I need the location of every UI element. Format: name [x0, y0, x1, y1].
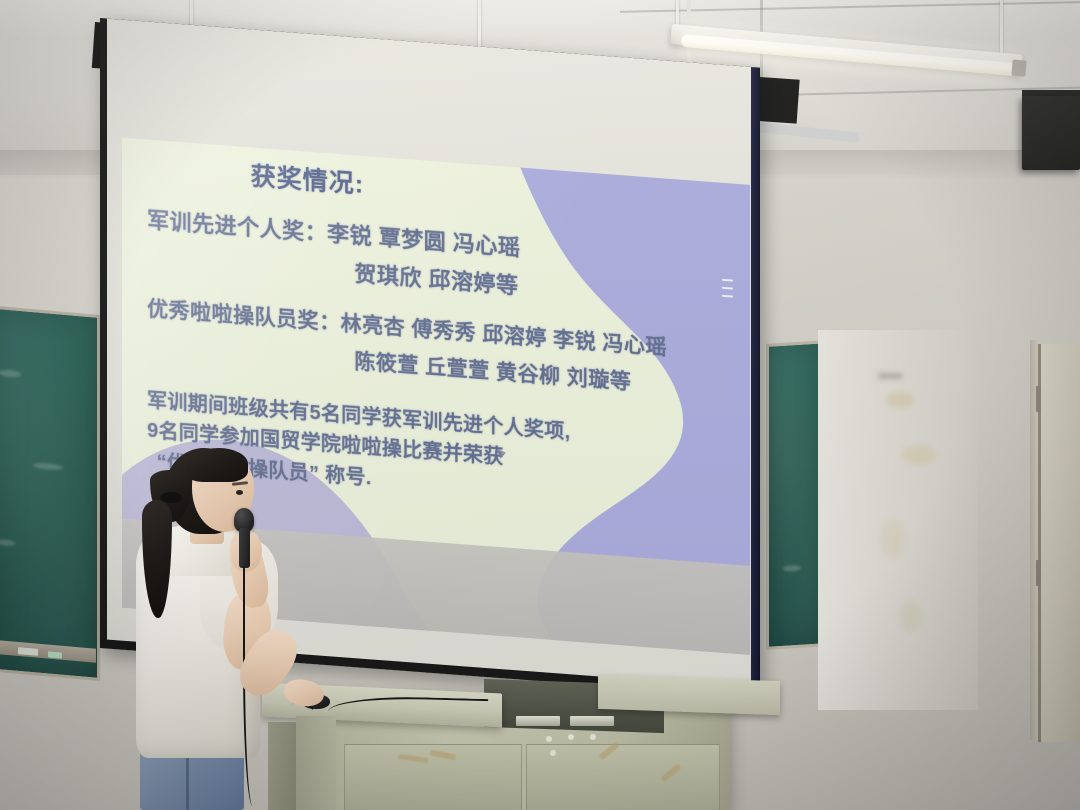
podium-equipment-slot	[570, 716, 614, 726]
chalk-smudge	[783, 565, 801, 572]
podium-equipment-slot	[516, 716, 560, 726]
chalk-smudge	[33, 462, 63, 471]
podium-leg	[268, 722, 298, 810]
wall-marking	[878, 374, 902, 378]
award-1-line-2: 贺琪欣 邱溶婷等	[354, 256, 518, 300]
wall-stain	[902, 445, 936, 465]
chalk-piece	[48, 651, 62, 658]
chalk-smudge	[0, 369, 21, 378]
podium-stud	[590, 734, 596, 740]
classroom-presentation-scene: 获奖情况: 军训先进个人奖：李锐 覃梦圆 冯心瑶 贺琪欣 邱溶婷等 优秀啦啦操队…	[0, 0, 1080, 810]
chalk-smudge	[0, 539, 15, 547]
wall-speaker	[1022, 96, 1080, 170]
wall-stain	[900, 600, 922, 632]
door-hinge	[1036, 560, 1041, 586]
microphone-body[interactable]	[239, 528, 250, 568]
door-hinge	[1036, 386, 1041, 412]
wall-pillar	[818, 330, 978, 710]
chalkboard-left	[0, 305, 100, 681]
wall-stain	[886, 392, 914, 408]
screen-border-left	[100, 18, 107, 649]
award-1-line-1: 军训先进个人奖：李锐 覃梦圆 冯心瑶	[147, 203, 520, 263]
presenter-jeans-seam	[186, 750, 189, 810]
screen-border-right	[751, 67, 760, 698]
slide-title: 获奖情况:	[251, 157, 364, 202]
podium-stud	[550, 750, 556, 756]
classroom-door[interactable]	[1038, 344, 1080, 742]
podium-stud	[546, 736, 552, 742]
podium-lid-open[interactable]	[598, 675, 780, 715]
presenter-eye	[236, 490, 243, 495]
podium-stud	[568, 734, 574, 740]
tube-end-cap	[1011, 59, 1026, 76]
presenter-hair-tie	[160, 492, 182, 503]
presenter-hair-fringe	[186, 448, 248, 482]
wall-stain	[880, 520, 906, 560]
podium-side-panel	[296, 716, 336, 810]
